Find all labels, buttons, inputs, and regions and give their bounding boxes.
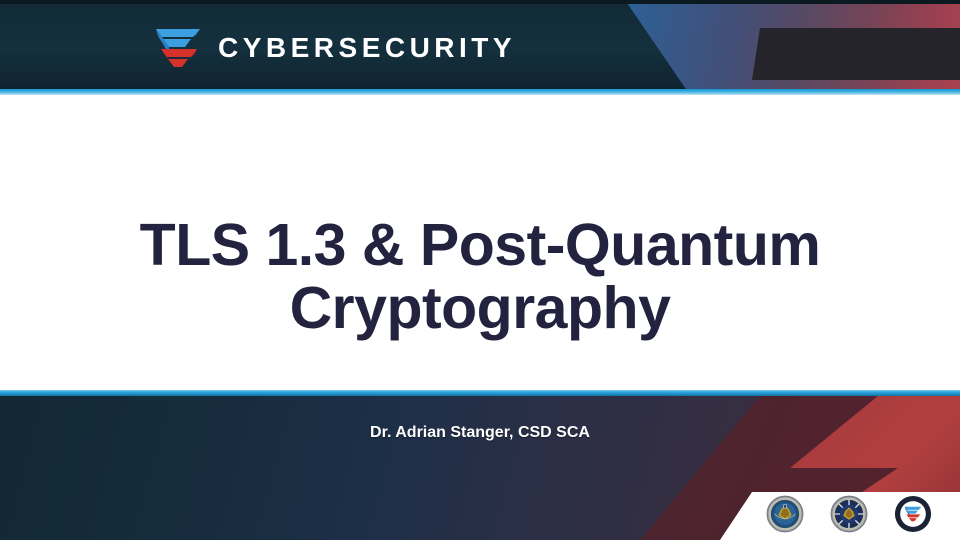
- presenter-byline: Dr. Adrian Stanger, CSD SCA: [0, 424, 960, 442]
- agency-compass-eagle-seal: [830, 495, 868, 533]
- brand-lockup: CYBERSECURITY: [152, 22, 516, 74]
- slide-footer: Dr. Adrian Stanger, CSD SCA: [0, 390, 960, 540]
- page-title: TLS 1.3 & Post-Quantum Cryptography: [60, 214, 900, 340]
- cybersecurity-ring-logo: [894, 495, 932, 533]
- slide-body: TLS 1.3 & Post-Quantum Cryptography: [0, 96, 960, 390]
- agency-eagle-seal: [766, 495, 804, 533]
- brand-name: CYBERSECURITY: [218, 34, 516, 62]
- cybersecurity-funnel-logo: [152, 22, 204, 74]
- header-dark-plate: [752, 28, 960, 80]
- footer-navy-region: [0, 396, 760, 540]
- agency-seal-group: [766, 495, 932, 533]
- header-accent-rule: [0, 89, 960, 95]
- slide-header: CYBERSECURITY: [0, 0, 960, 95]
- header-top-strip: [0, 0, 960, 4]
- title-slide: CYBERSECURITY TLS 1.3 & Post-Quantum Cry…: [0, 0, 960, 540]
- footer-accent-rule: [0, 390, 960, 396]
